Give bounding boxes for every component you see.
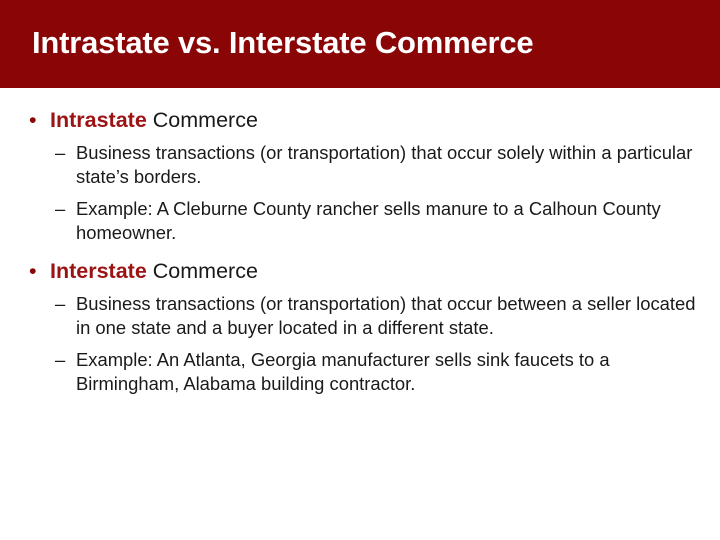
presentation-slide: Intrastate vs. Interstate Commerce • Int…: [0, 0, 720, 540]
bullet-item-interstate: • Interstate Commerce: [0, 257, 708, 285]
en-dash-icon: –: [55, 348, 65, 372]
slide-title: Intrastate vs. Interstate Commerce: [32, 0, 706, 88]
bullet-text-interstate: Commerce: [147, 259, 258, 283]
bullet-text-intrastate: Commerce: [147, 108, 258, 132]
bullet-keyword-intrastate: Intrastate: [50, 108, 147, 132]
sub-bullet-item: – Business transactions (or transportati…: [0, 292, 708, 339]
sub-bullet-text: Example: An Atlanta, Georgia manufacture…: [76, 348, 708, 395]
bullet-dot-icon: •: [29, 257, 37, 285]
sub-bullet-item: – Business transactions (or transportati…: [0, 141, 708, 188]
sub-bullet-text: Business transactions (or transportation…: [76, 292, 708, 339]
slide-title-banner: Intrastate vs. Interstate Commerce: [0, 0, 720, 88]
en-dash-icon: –: [55, 292, 65, 316]
en-dash-icon: –: [55, 197, 65, 221]
sub-bullet-text: Example: A Cleburne County rancher sells…: [76, 197, 708, 244]
sub-bullet-item: – Example: An Atlanta, Georgia manufactu…: [0, 348, 708, 395]
bullet-dot-icon: •: [29, 106, 37, 134]
bullet-item-intrastate: • Intrastate Commerce: [0, 106, 708, 134]
slide-body: • Intrastate Commerce – Business transac…: [0, 88, 720, 540]
sub-bullet-text: Business transactions (or transportation…: [76, 141, 708, 188]
sub-bullet-item: – Example: A Cleburne County rancher sel…: [0, 197, 708, 244]
en-dash-icon: –: [55, 141, 65, 165]
bullet-keyword-interstate: Interstate: [50, 259, 147, 283]
